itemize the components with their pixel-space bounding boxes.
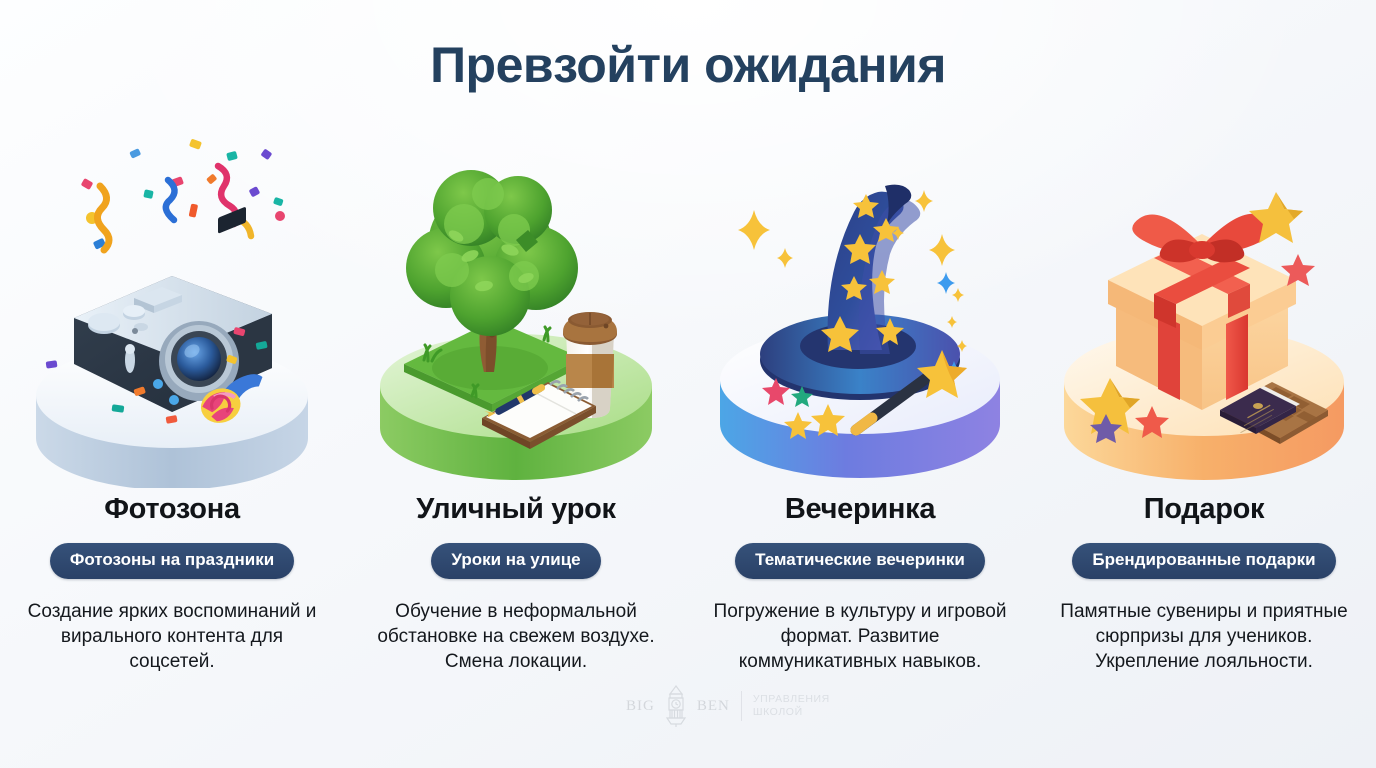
card-title: Вечеринка (785, 494, 935, 526)
card-badge[interactable]: Фотозоны на праздники (50, 543, 294, 579)
illustration-wizard-hat-wand (710, 128, 1010, 488)
cards-row: Фотозона Фотозоны на праздники Создание … (0, 128, 1376, 674)
card-title: Фотозона (104, 494, 240, 526)
card-title: Подарок (1144, 494, 1265, 526)
watermark-line-1: УПРАВЛЕНИЯ (753, 693, 830, 706)
card-outdoor-lesson[interactable]: Уличный урок Уроки на улице Обучение в н… (344, 128, 688, 674)
card-badge[interactable]: Брендированные подарки (1072, 543, 1335, 579)
illustration-camera-confetti (22, 128, 322, 488)
watermark-subtitle: УПРАВЛЕНИЯ ШКОЛОЙ (753, 693, 830, 719)
card-description: Создание ярких воспоминаний и вирального… (22, 599, 322, 674)
watermark-divider (741, 691, 742, 721)
card-description: Памятные сувениры и приятные сюрпризы дл… (1054, 599, 1354, 674)
watermark-line-2: ШКОЛОЙ (753, 706, 830, 719)
page-title: Превзойти ожидания (0, 36, 1376, 94)
illustration-gift-box-chocolate (1054, 128, 1354, 488)
card-title: Уличный урок (416, 494, 616, 526)
illustration-tree-coffee-notebook (366, 128, 666, 488)
card-photozone[interactable]: Фотозона Фотозоны на праздники Создание … (0, 128, 344, 674)
watermark-big-text: BIG (626, 698, 655, 715)
clock-tower-icon (663, 684, 689, 728)
card-badge[interactable]: Тематические вечеринки (735, 543, 985, 579)
card-description: Погружение в культуру и игровой формат. … (710, 599, 1010, 674)
card-description: Обучение в неформальной обстановке на св… (366, 599, 666, 674)
card-badge[interactable]: Уроки на улице (431, 543, 600, 579)
watermark-ben-text: BEN (697, 698, 730, 715)
card-gift[interactable]: Подарок Брендированные подарки Памятные … (1032, 128, 1376, 674)
watermark: BIG BEN УПРАВЛЕНИЯ ШКОЛОЙ (626, 684, 830, 728)
card-party[interactable]: Вечеринка Тематические вечеринки Погруже… (688, 128, 1032, 674)
slide-root: Превзойти ожидания (0, 0, 1376, 768)
